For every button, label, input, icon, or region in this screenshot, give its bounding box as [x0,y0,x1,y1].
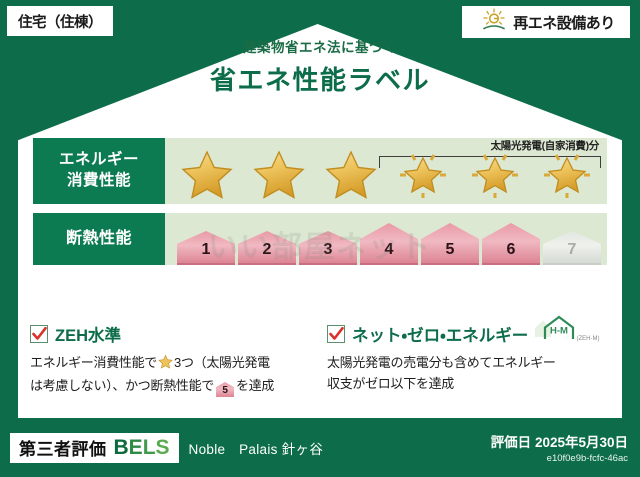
star-base [320,146,382,202]
criterion-zeh-body: エネルギー消費性能で3つ（太陽光発電 は考慮しない）、かつ断熱性能で5を達成 [30,352,313,397]
renewable-badge-label: 再エネ設備あり [513,12,615,33]
bels-letter-b: B [114,436,129,459]
criterion-nze-body: 太陽光発電の売電分も含めてエネルギー 収支がゼロ以下を達成 [327,352,610,394]
evaluation-date: 評価日 2025年5月30日 [491,431,628,451]
evaluation-info: 評価日 2025年5月30日 e10f0e9b-fcfc-46ac [491,431,628,464]
insulation-grade-chip: 4 [360,223,418,265]
inline-grade-chip: 5 [216,382,234,397]
bels-letter-e: E [129,436,143,459]
zeh-m-logo-caption: (ZEH-M) [577,336,600,342]
insulation-grade-chip: 6 [482,223,540,265]
criterion-zeh-header: ZEH水準 [30,322,313,346]
third-party-label: 第三者評価 [19,435,107,460]
energy-performance-row: エネルギー 消費性能 太陽光発電(自家消費)分 [33,138,607,204]
criteria-section: ZEH水準 エネルギー消費性能で3つ（太陽光発電 は考慮しない）、かつ断熱性能で… [30,322,610,397]
star-solar [536,146,598,202]
star-solar [464,146,526,202]
headline-title: 省エネ性能ラベル [0,60,640,97]
nze-text-part1: 太陽光発電の売電分も含めてエネルギー [327,355,556,370]
insulation-grade-chip: 2 [238,231,296,265]
zeh-text-part3: は考慮しない）、かつ断熱性能で [30,378,214,393]
energy-performance-value: 太陽光発電(自家消費)分 [165,138,607,204]
building-name: Noble Palais 針ヶ谷 [189,438,324,458]
label-headline: 建築物省エネ法に基づく 省エネ性能ラベル [0,36,640,97]
insulation-grade-scale: 1 2 3 4 5 6 7 [177,219,601,265]
check-icon [30,325,48,343]
housing-type-badge: 住宅（住棟） [7,6,113,36]
criterion-nze-title: ネット・ゼロ・エネルギー [352,322,528,346]
energy-label-line2: 消費性能 [67,171,131,192]
ratings-section: エネルギー 消費性能 太陽光発電(自家消費)分 [33,138,607,274]
headline-subtitle: 建築物省エネ法に基づく [0,36,640,56]
insulation-performance-row: 断熱性能 1 2 3 4 5 6 7 [33,213,607,265]
energy-performance-label: エネルギー 消費性能 [33,138,165,204]
insulation-grade-chip: 5 [421,223,479,265]
star-rating [171,146,603,202]
insulation-grade-chip: 1 [177,231,235,265]
energy-label-line1: エネルギー [59,150,139,171]
nze-text-part2: 収支がゼロ以下を達成 [327,376,454,391]
zeh-text-part4: を達成 [236,378,274,393]
insulation-label-line1: 断熱性能 [66,228,132,250]
check-icon [327,325,345,343]
criterion-net-zero-energy: ネット・ゼロ・エネルギー 太陽光発電の売電分も含めてエネルギー 収支がゼロ以下を… [327,322,610,397]
inline-star-icon [158,357,173,372]
criterion-zeh: ZEH水準 エネルギー消費性能で3つ（太陽光発電 は考慮しない）、かつ断熱性能で… [30,322,313,397]
energy-performance-label: 住宅（住棟） 再エネ設備あり 建築物省エネ法に基づく [0,0,640,477]
evaluation-id: e10f0e9b-fcfc-46ac [491,453,628,464]
bels-badge: 第三者評価 BELS [10,433,179,463]
star-base [248,146,310,202]
star-base [176,146,238,202]
bels-letter-s: S [156,436,170,459]
zeh-text-part2: 3つ（太陽光発電 [174,355,270,370]
zeh-m-logo: H-M (ZEH-M) [532,315,604,349]
bels-wordmark: BELS [114,436,170,460]
insulation-performance-value: 1 2 3 4 5 6 7 [165,213,607,265]
zeh-text-part1: エネルギー消費性能で [30,355,157,370]
renewable-equipment-badge: 再エネ設備あり [462,6,630,38]
criterion-zeh-title: ZEH水準 [55,322,121,346]
insulation-performance-label: 断熱性能 [33,213,165,265]
insulation-grade-chip: 7 [543,231,601,265]
housing-type-label: 住宅（住棟） [18,11,102,32]
insulation-grade-chip: 3 [299,231,357,265]
zeh-m-logo-text: H-M [550,326,568,337]
sun-renewable-icon [481,8,507,36]
bottom-bar: 第三者評価 BELS Noble Palais 針ヶ谷 評価日 2025年5月3… [0,418,640,477]
bels-letter-l: L [143,436,156,459]
star-solar [392,146,454,202]
